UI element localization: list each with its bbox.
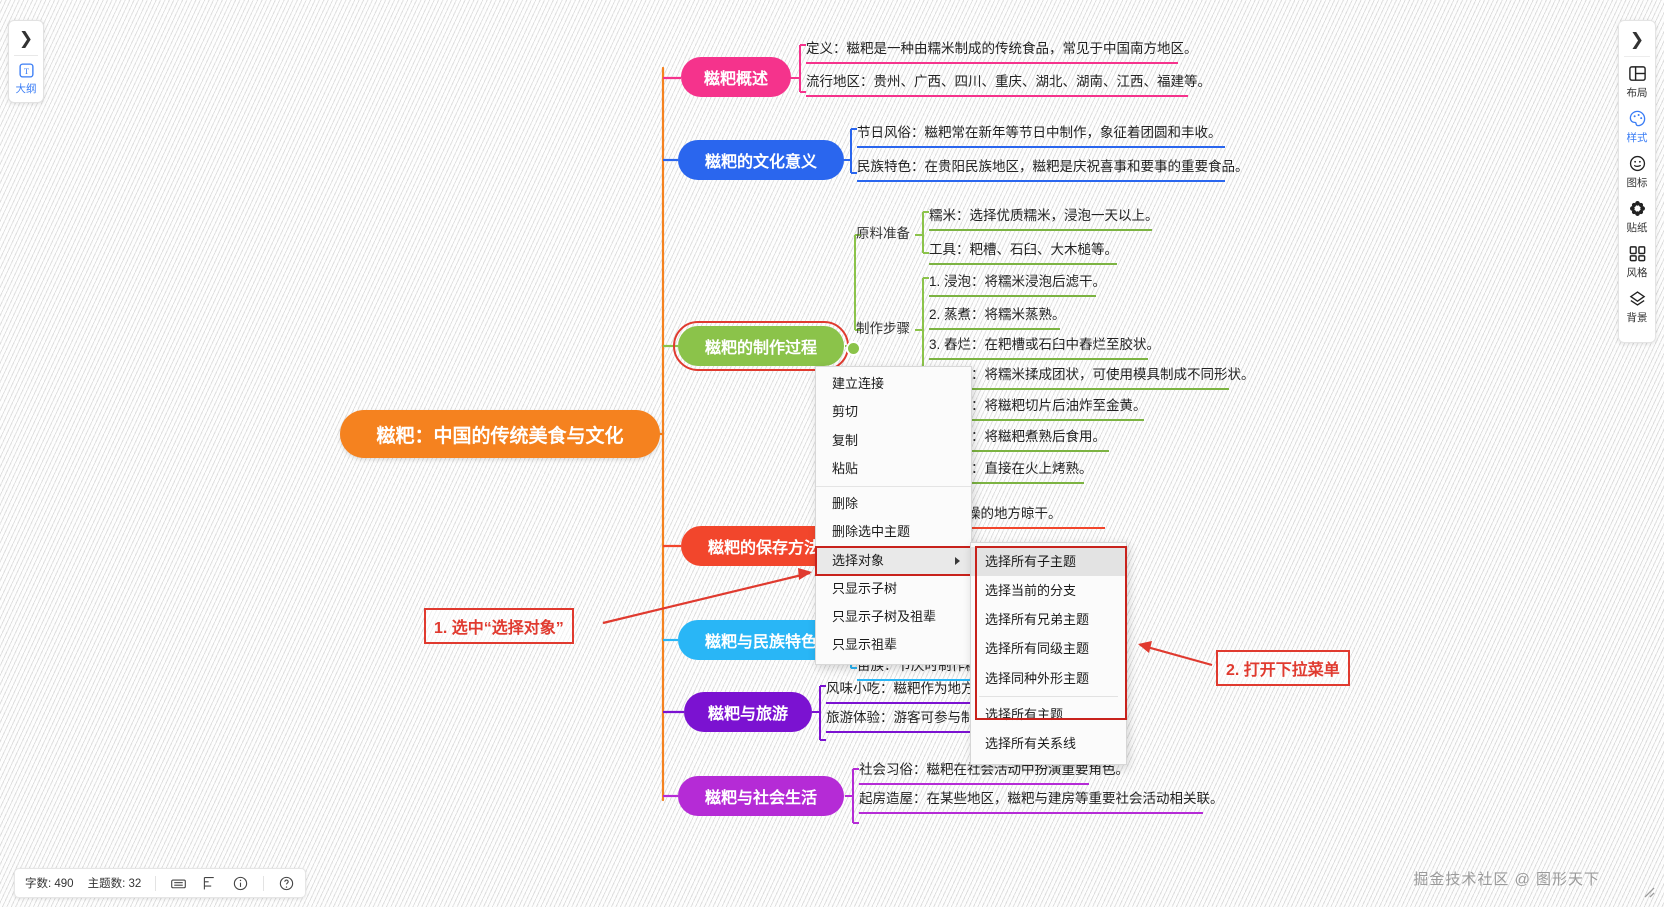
leaf-node[interactable]: 3. 舂烂：在粑槽或石臼中舂烂至胶状。	[929, 337, 1160, 353]
right-dock[interactable]: ❯ 布局 样式 图标 贴纸 风格 背景	[1618, 20, 1656, 343]
status-divider	[155, 876, 156, 891]
branch-label: 糍粑与社会生活	[705, 784, 817, 808]
leaf-underline	[929, 295, 1096, 297]
select-object-submenu[interactable]: 选择所有子主题 选择当前的分支 选择所有兄弟主题 选择所有同级主题 选择同种外形…	[970, 542, 1127, 765]
leaf-node[interactable]: 节日风俗：糍粑常在新年等节日中制作，象征着团圆和丰收。	[857, 125, 1222, 141]
sticker-icon	[1628, 199, 1647, 218]
subgroup-label-0[interactable]: 原料准备	[856, 226, 910, 242]
branch-label: 糍粑的保存方法	[708, 534, 820, 558]
branch-label: 糍粑与民族特色	[705, 628, 817, 652]
context-menu[interactable]: 建立连接 剪切 复制 粘贴 删除 删除选中主题 选择对象 只显示子树 只显示子树…	[815, 366, 972, 665]
layout-icon	[1628, 64, 1647, 83]
background-icon	[1628, 289, 1647, 308]
smiley-icon	[1628, 154, 1647, 173]
leaf-underline	[929, 229, 1152, 231]
menu-item-show-subtree-and-ancestors[interactable]: 只显示子树及祖辈	[816, 603, 971, 631]
branch-node-1[interactable]: 糍粑的文化意义	[678, 140, 844, 180]
leaf-underline	[929, 263, 1117, 265]
leaf-node[interactable]: 流行地区：贵州、广西、四川、重庆、湖北、湖南、江西、福建等。	[806, 74, 1211, 90]
sidebar-item-label: 贴纸	[1627, 220, 1648, 235]
status-divider	[263, 876, 264, 891]
sidebar-item-layout[interactable]: 布局	[1627, 64, 1648, 100]
leaf-underline	[857, 180, 1225, 182]
sidebar-item-theme[interactable]: 风格	[1627, 244, 1648, 280]
submenu-item-select-same-shape[interactable]: 选择同种外形主题	[971, 664, 1126, 693]
leaf-node[interactable]: 起房造屋：在某些地区，糍粑与建房等重要社会活动相关联。	[859, 791, 1224, 807]
branch-label: 糍粑概述	[704, 65, 768, 89]
menu-item-paste[interactable]: 粘贴	[816, 455, 971, 483]
sidebar-item-stickers[interactable]: 贴纸	[1627, 199, 1648, 235]
branch-label: 糍粑的制作过程	[705, 334, 817, 358]
annotation-step-2: 2. 打开下拉菜单	[1216, 650, 1350, 686]
sidebar-item-style[interactable]: 样式	[1627, 109, 1648, 145]
svg-text:T: T	[23, 66, 29, 76]
sidebar-item-icons[interactable]: 图标	[1627, 154, 1648, 190]
sidebar-item-outline[interactable]: T 大纲	[16, 62, 37, 96]
palette-icon	[1628, 109, 1647, 128]
branch-node-2[interactable]: 糍粑的制作过程	[678, 326, 844, 366]
menu-item-delete[interactable]: 删除	[816, 490, 971, 518]
menu-item-create-link[interactable]: 建立连接	[816, 370, 971, 398]
grid-icon	[1628, 244, 1647, 263]
sidebar-item-label: 样式	[1627, 130, 1648, 145]
leaf-underline	[929, 388, 1229, 390]
leaf-underline	[929, 358, 1148, 360]
menu-separator	[979, 696, 1118, 697]
sidebar-item-label: 背景	[1627, 310, 1648, 325]
topic-count-label: 主题数: 32	[88, 875, 142, 891]
outline-icon: T	[18, 62, 35, 79]
leaf-node[interactable]: 工具：粑槽、石臼、大木槌等。	[929, 242, 1118, 258]
expand-right-panel-button[interactable]: ❯	[1630, 25, 1644, 56]
word-count-label: 字数: 490	[25, 875, 74, 891]
subgroup-label-1[interactable]: 制作步骤	[856, 321, 910, 337]
menu-item-cut[interactable]: 剪切	[816, 398, 971, 426]
leaf-underline	[859, 783, 1089, 785]
watermark: 掘金技术社区 @ 图形天下	[1413, 868, 1600, 889]
keyboard-icon[interactable]	[170, 875, 187, 892]
root-node[interactable]: 糍粑：中国的传统美食与文化	[340, 410, 660, 458]
branch-node-2-handle[interactable]	[846, 341, 861, 356]
sidebar-item-label: 风格	[1627, 265, 1648, 280]
leaf-underline	[857, 146, 1225, 148]
chevron-right-icon	[955, 557, 960, 565]
root-node-label: 糍粑：中国的传统美食与文化	[376, 421, 623, 448]
leaf-node[interactable]: 1. 浸泡：将糯米浸泡后滤干。	[929, 274, 1106, 290]
menu-item-show-ancestors-only[interactable]: 只显示祖辈	[816, 631, 971, 659]
branch-node-5[interactable]: 糍粑与旅游	[684, 692, 812, 732]
submenu-item-select-all-same-level[interactable]: 选择所有同级主题	[971, 635, 1126, 664]
dock-divider	[14, 55, 38, 56]
leaf-node[interactable]: 民族特色：在贵阳民族地区，糍粑是庆祝喜事和要事的重要食品。	[857, 159, 1249, 175]
resize-grip[interactable]	[1640, 883, 1656, 899]
leaf-node[interactable]: 2. 蒸煮：将糯米蒸熟。	[929, 307, 1066, 323]
submenu-item-select-all-topics[interactable]: 选择所有主题	[971, 700, 1126, 729]
submenu-item-select-current-branch[interactable]: 选择当前的分支	[971, 576, 1126, 605]
sidebar-item-label: 布局	[1627, 85, 1648, 100]
leaf-underline	[929, 328, 1060, 330]
ruler-icon[interactable]	[201, 875, 218, 892]
expand-left-panel-button[interactable]: ❯	[19, 25, 33, 54]
left-dock[interactable]: ❯ T 大纲	[8, 20, 44, 103]
leaf-node[interactable]: 4. 成形：将糯米揉成团状，可使用模具制成不同形状。	[929, 367, 1255, 383]
dock-divider	[1624, 56, 1650, 57]
help-icon[interactable]	[278, 875, 295, 892]
menu-item-copy[interactable]: 复制	[816, 427, 971, 455]
watermark-text: 掘金技术社区 @ 图形天下	[1413, 868, 1600, 889]
leaf-node[interactable]: 定义：糍粑是一种由糯米制成的传统食品，常见于中国南方地区。	[806, 41, 1198, 57]
sidebar-item-label: 大纲	[16, 81, 37, 96]
info-icon[interactable]	[232, 875, 249, 892]
menu-item-select-object[interactable]: 选择对象	[816, 547, 971, 575]
sidebar-item-label: 图标	[1627, 175, 1648, 190]
menu-item-show-subtree-only[interactable]: 只显示子树	[816, 575, 971, 603]
branch-label: 糍粑与旅游	[708, 700, 788, 724]
menu-item-delete-selected-topic[interactable]: 删除选中主题	[816, 518, 971, 546]
leaf-underline	[859, 812, 1203, 814]
branch-label: 糍粑的文化意义	[705, 148, 817, 172]
status-bar[interactable]: 字数: 490 主题数: 32	[14, 868, 306, 898]
menu-separator	[816, 486, 971, 487]
branch-node-0[interactable]: 糍粑概述	[681, 57, 791, 97]
leaf-underline	[806, 95, 1188, 97]
submenu-item-select-all-relationships[interactable]: 选择所有关系线	[971, 730, 1126, 759]
leaf-node[interactable]: 糯米：选择优质糯米，浸泡一天以上。	[929, 208, 1159, 224]
leaf-underline	[806, 62, 1178, 64]
submenu-item-select-all-siblings[interactable]: 选择所有兄弟主题	[971, 606, 1126, 635]
branch-node-6[interactable]: 糍粑与社会生活	[678, 776, 844, 816]
sidebar-item-background[interactable]: 背景	[1627, 289, 1648, 325]
annotation-step-1: 1. 选中“选择对象”	[424, 608, 574, 644]
submenu-item-select-all-children[interactable]: 选择所有子主题	[971, 547, 1126, 576]
